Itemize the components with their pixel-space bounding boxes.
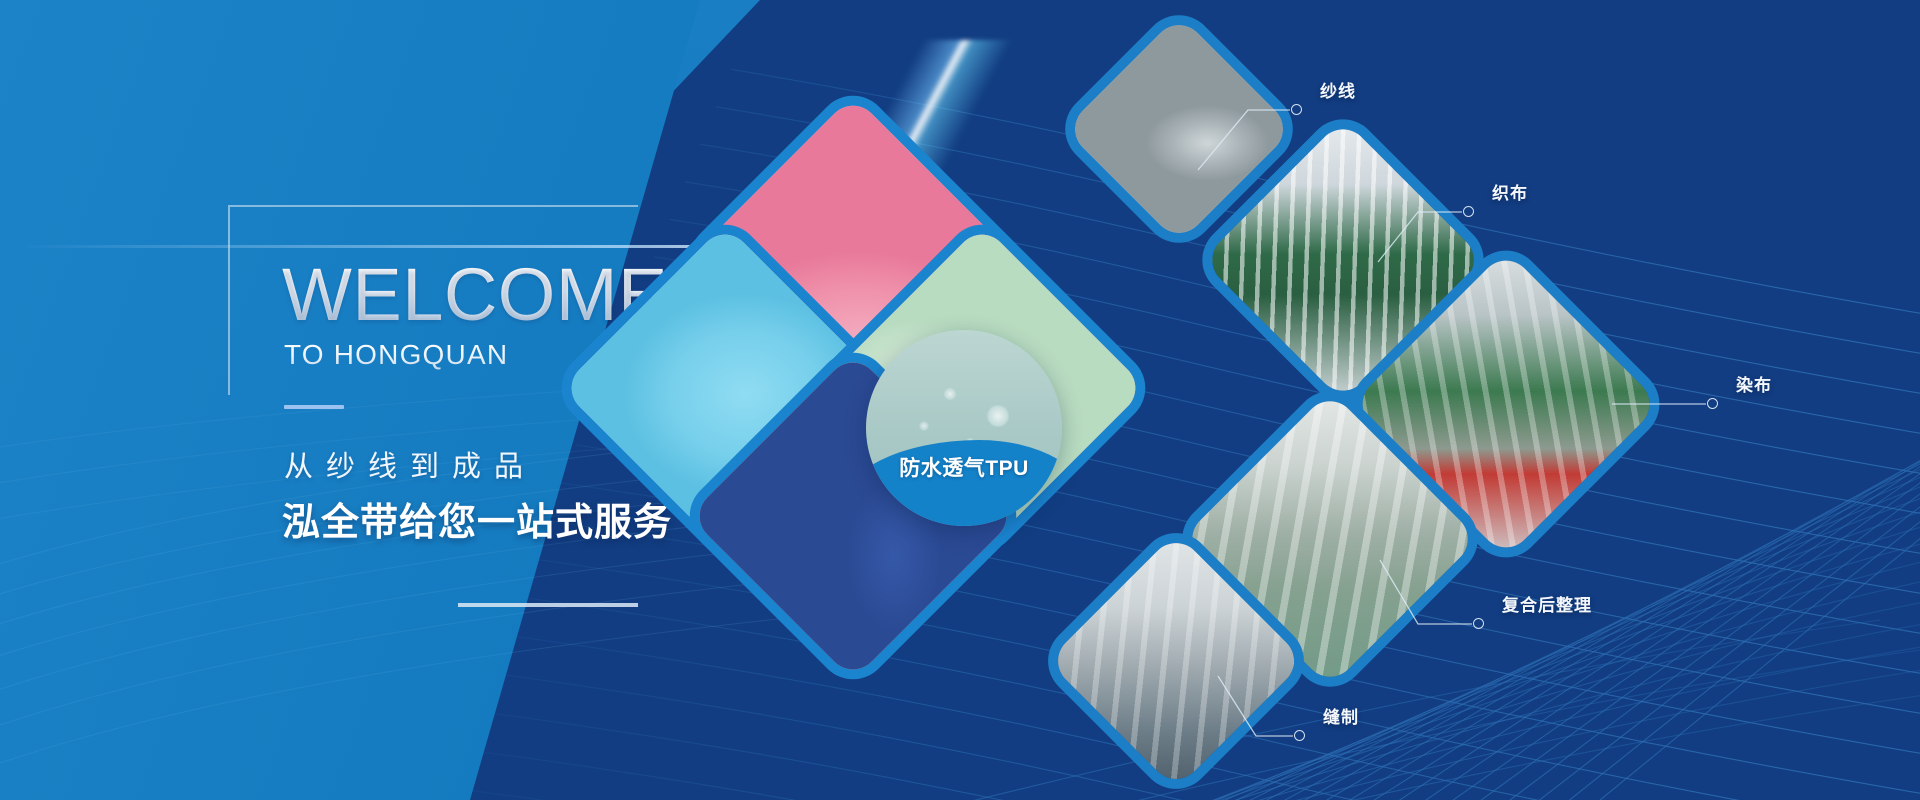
callout-label-weaving: 织布: [1492, 179, 1528, 204]
hero-banner: WELCOME TO HONGQUAN 从纱线到成品 泓全带给您一站式服务 防水…: [0, 0, 1920, 800]
callout-dot-finishing: [1473, 618, 1484, 629]
callout-leader-lines: [0, 0, 1920, 800]
callout-dot-weaving: [1463, 206, 1474, 217]
callout-dot-dyeing: [1707, 398, 1718, 409]
callout-label-sewing: 缝制: [1323, 703, 1359, 728]
callout-label-finishing: 复合后整理: [1502, 591, 1592, 616]
callout-dot-sewing: [1294, 730, 1305, 741]
callout-dot-yarn: [1291, 104, 1302, 115]
callout-label-yarn: 纱线: [1320, 77, 1356, 102]
callout-label-dyeing: 染布: [1736, 371, 1772, 396]
